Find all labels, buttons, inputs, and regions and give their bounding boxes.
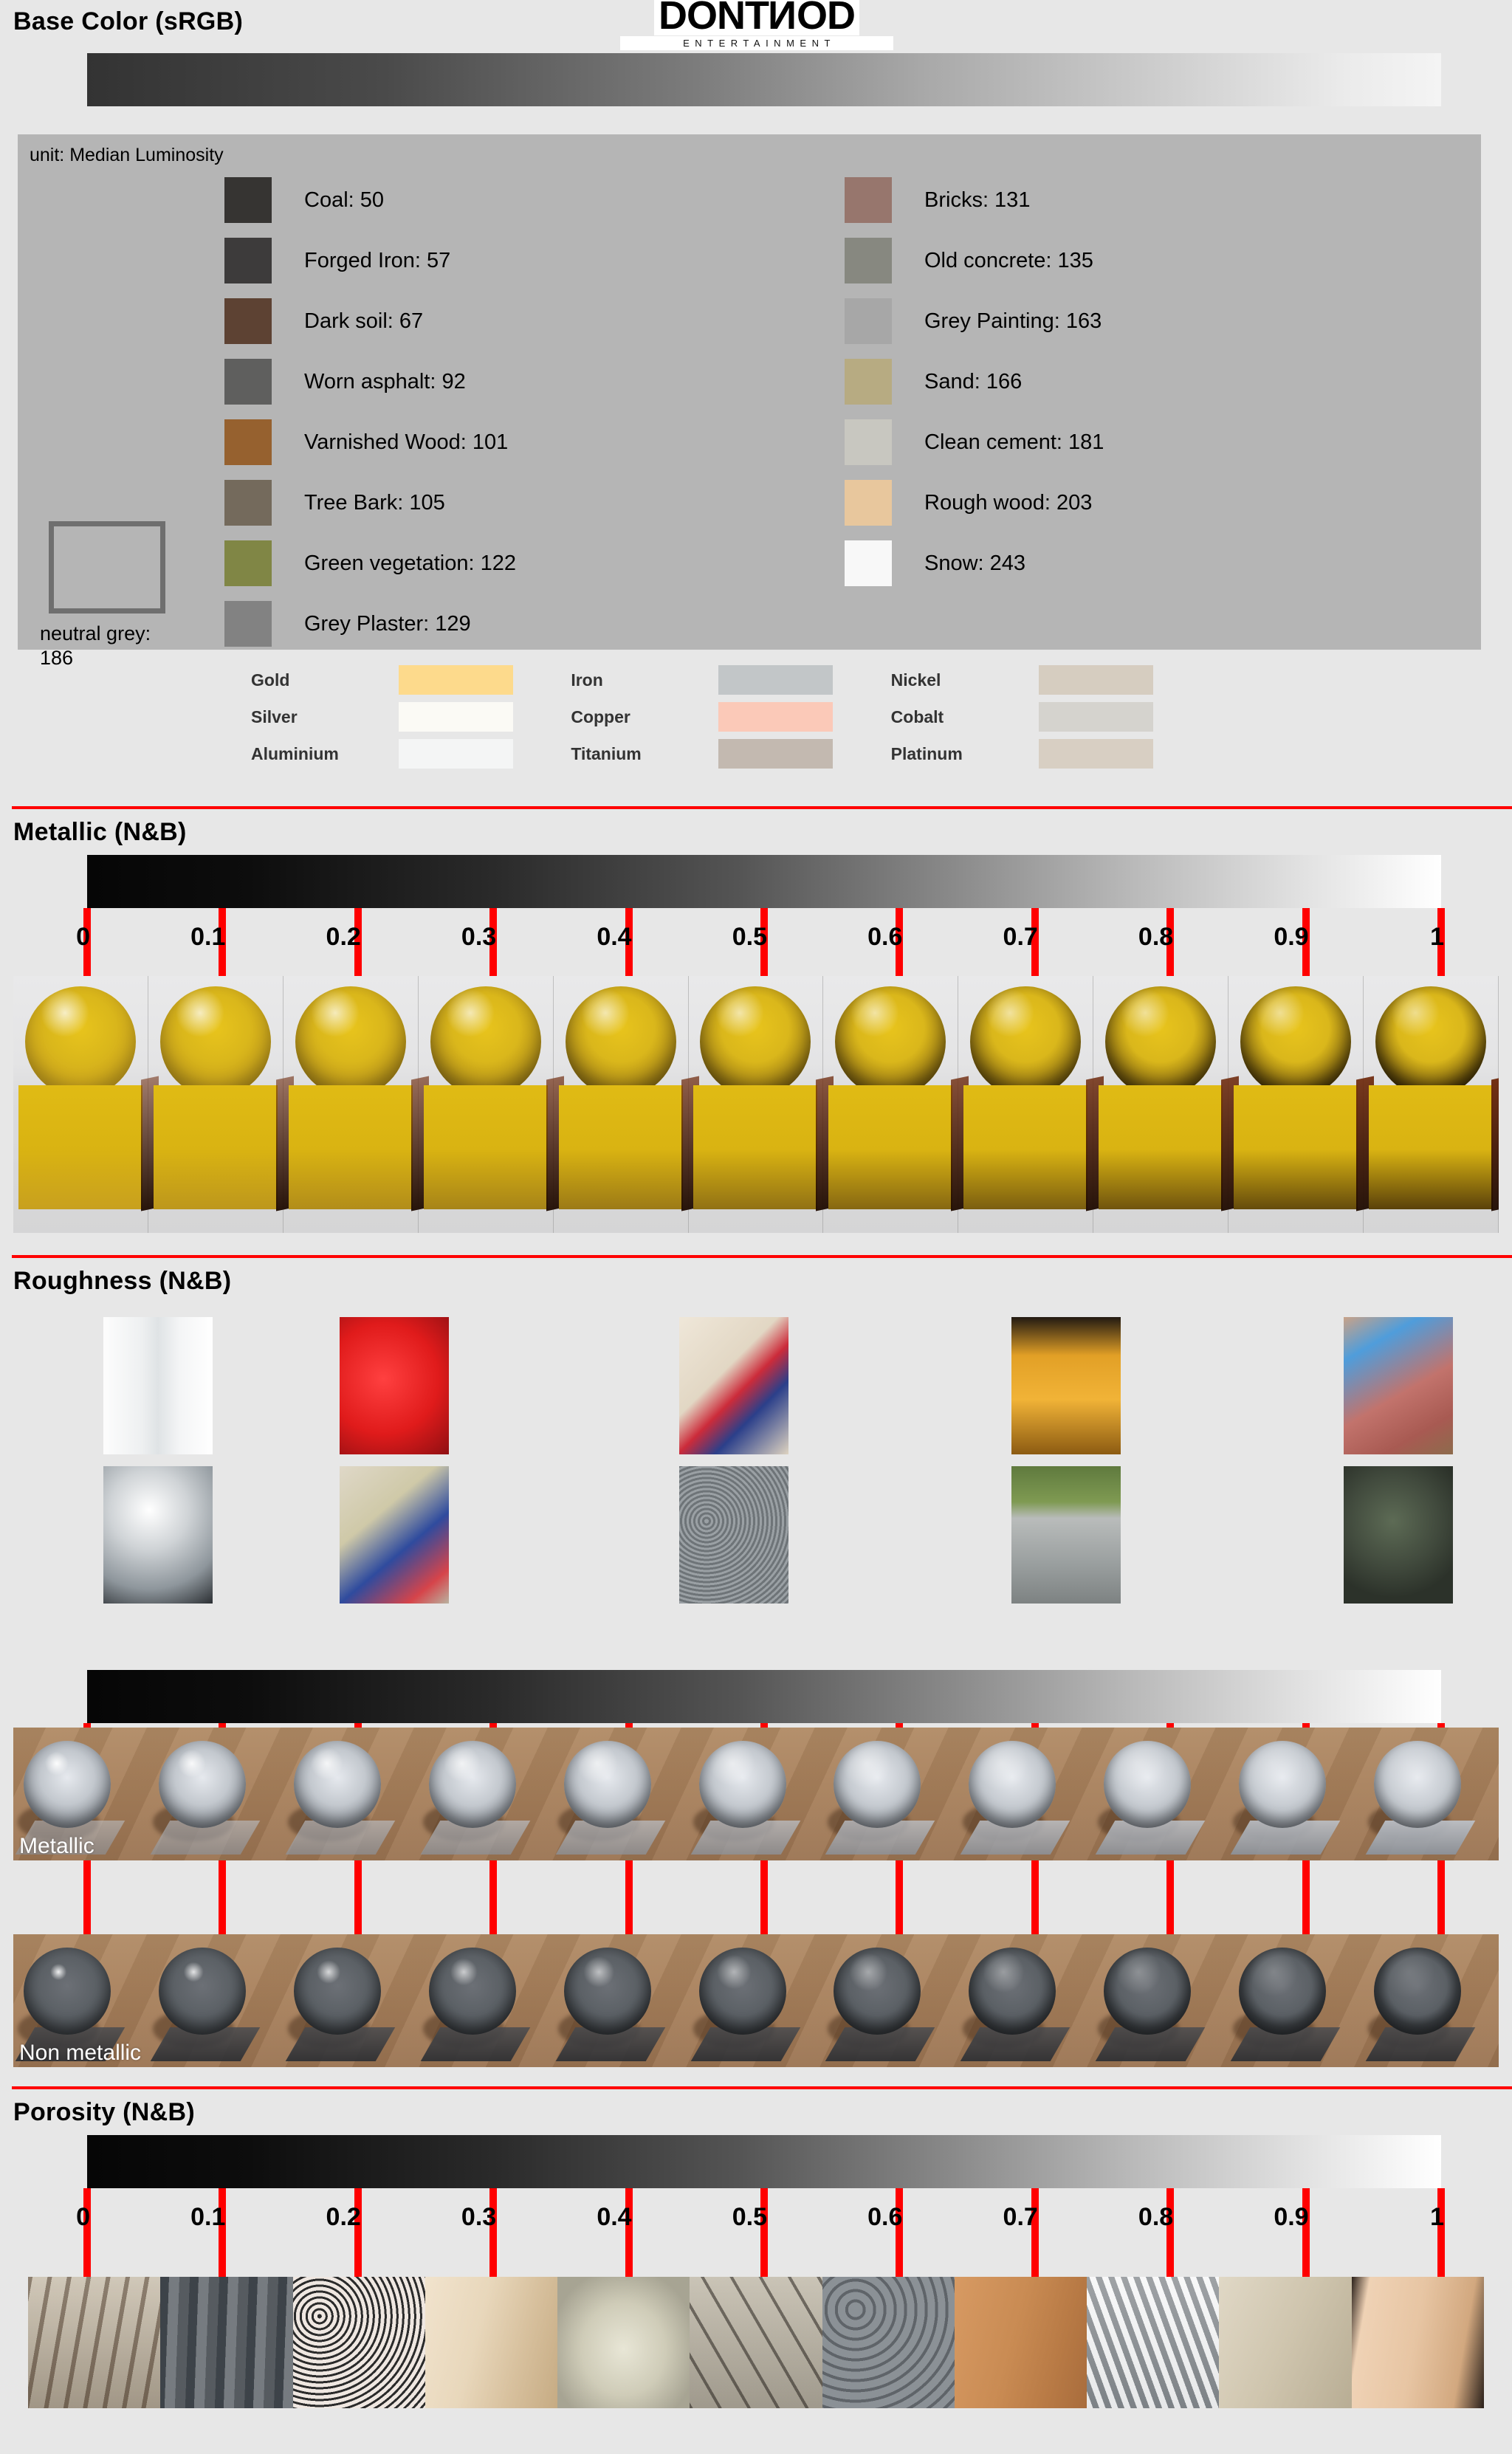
- section-title-base-color: Base Color (sRGB): [0, 1, 243, 36]
- scale-tick: [354, 2188, 362, 2277]
- cube-front-face: [1234, 1085, 1358, 1209]
- roughness-non-metallic-sample: [1364, 1934, 1499, 2067]
- cube-front-face: [963, 1085, 1087, 1209]
- metal-chip: [1039, 702, 1153, 732]
- porosity-photo-dry-sand-dune: [1219, 2277, 1351, 2408]
- scale-tick-label: 0.4: [597, 923, 631, 952]
- metal-name: Silver: [251, 707, 399, 727]
- neutral-grey-label: neutral grey:186: [40, 622, 210, 670]
- sample-sphere: [969, 1948, 1056, 2035]
- swatch-row: Forged Iron: 57: [224, 230, 516, 291]
- scale-tick-label: 0.1: [190, 2203, 225, 2232]
- sample-sphere: [1374, 1741, 1461, 1828]
- section-title-roughness: Roughness (N&B): [0, 1261, 231, 1296]
- sample-sphere: [1239, 1948, 1326, 2035]
- porosity-photo-pale-limestone: [425, 2277, 557, 2408]
- roughness-metallic-sample: [1228, 1728, 1364, 1860]
- sample-sphere: [1104, 1741, 1191, 1828]
- roughness-metallic-sample: [283, 1728, 419, 1860]
- sample-sphere: [969, 1741, 1056, 1828]
- roughness-non-metallic-sample: [419, 1934, 554, 2067]
- cube-side-face: [1491, 1076, 1499, 1211]
- metallic-sample-cube: [424, 1085, 548, 1209]
- scale-tick-label: 0.8: [1138, 923, 1173, 952]
- scale-tick-label: 0.9: [1274, 923, 1308, 952]
- scale-tick: [1302, 2188, 1310, 2277]
- sample-sphere: [24, 1741, 111, 1828]
- metallic-sample-sphere: [835, 986, 946, 1097]
- metallic-sample-cube: [963, 1085, 1087, 1209]
- metallic-scale-bar: [87, 855, 1441, 908]
- swatch-row: Old concrete: 135: [845, 230, 1104, 291]
- sample-sphere: [294, 1948, 381, 2035]
- swatch-label: Varnished Wood: 101: [304, 430, 508, 455]
- metallic-sample-cube: [18, 1085, 142, 1209]
- swatch-row: Coal: 50: [224, 170, 516, 230]
- metallic-sample-sphere: [1105, 986, 1216, 1097]
- swatch-row: Sand: 166: [845, 351, 1104, 412]
- roughness-non-metallic-sample: [283, 1934, 419, 2067]
- swatch-row: Clean cement: 181: [845, 412, 1104, 472]
- scale-tick-label: 1: [1430, 2203, 1444, 2232]
- base-color-swatch-panel: unit: Median Luminosity neutral grey:186…: [18, 134, 1481, 650]
- metallic-sample-sphere: [566, 986, 676, 1097]
- porosity-scale-ticks: 00.10.20.30.40.50.60.70.80.91: [87, 2188, 1441, 2233]
- roughness-non-metallic-row: Non metallic: [13, 1934, 1499, 2067]
- reference-photo-pink-blue-eraser: [1344, 1317, 1453, 1454]
- roughness-metallic-sample: [1093, 1728, 1228, 1860]
- metallic-sample-cube: [154, 1085, 278, 1209]
- cube-front-face: [559, 1085, 683, 1209]
- swatch-row: Rough wood: 203: [845, 472, 1104, 533]
- scale-tick-label: 0.6: [867, 923, 902, 952]
- roughness-metallic-sample: [823, 1728, 958, 1860]
- porosity-scale-bar: [87, 2135, 1441, 2188]
- neutral-grey-swatch: [49, 521, 165, 613]
- cube-front-face: [18, 1085, 142, 1209]
- swatch-row: Snow: 243: [845, 533, 1104, 594]
- metal-name: Titanium: [571, 744, 718, 764]
- metal-chip: [718, 739, 833, 769]
- scale-tick: [83, 1860, 91, 1934]
- scale-tick-label: 0.7: [1003, 2203, 1038, 2232]
- color-chip: [224, 359, 272, 405]
- swatch-label: Forged Iron: 57: [304, 249, 450, 273]
- swatch-label: Coal: 50: [304, 188, 384, 213]
- reference-photo-metal-pen-tip: [340, 1466, 449, 1604]
- unit-label: unit: Median Luminosity: [30, 145, 224, 166]
- scale-tick: [489, 2188, 497, 2277]
- metallic-sample-cube: [1369, 1085, 1493, 1209]
- color-chip: [224, 601, 272, 647]
- scale-tick-label: 0.2: [326, 923, 361, 952]
- cube-front-face: [1099, 1085, 1223, 1209]
- swatch-label: Grey Plaster: 129: [304, 612, 471, 636]
- scale-tick: [625, 2188, 633, 2277]
- scale-tick: [760, 1860, 768, 1934]
- divider-porosity: [12, 2086, 1512, 2089]
- metallic-sample: [148, 976, 283, 1233]
- roughness-metallic-sample: [419, 1728, 554, 1860]
- color-chip: [224, 480, 272, 526]
- sample-sphere: [699, 1741, 786, 1828]
- roughness-scale-bar: [87, 1670, 1441, 1723]
- metal-cell: Iron: [571, 661, 890, 698]
- reference-photo-tarnished-coins: [1344, 1466, 1453, 1604]
- roughness-reference-photos: [0, 1310, 1512, 1605]
- porosity-photo-orange-sandstone: [955, 2277, 1087, 2408]
- metal-name: Aluminium: [251, 744, 399, 764]
- metallic-sample-sphere: [1240, 986, 1351, 1097]
- reference-photo-orange-plastic-bottle-cap: [1011, 1317, 1121, 1454]
- metallic-sample-sphere: [970, 986, 1081, 1097]
- metallic-sample: [1364, 976, 1499, 1233]
- metal-chip: [399, 665, 513, 695]
- porosity-photo-speckled-granite: [293, 2277, 425, 2408]
- metal-cell: Cobalt: [891, 698, 1211, 735]
- metal-cell: Titanium: [571, 735, 890, 772]
- scale-tick-label: 0.8: [1138, 2203, 1173, 2232]
- reference-photo-ballpoint-pens-on-paper: [679, 1317, 788, 1454]
- metallic-scale-ticks: 00.10.20.30.40.50.60.70.80.91: [87, 908, 1441, 952]
- metallic-sample: [1228, 976, 1364, 1233]
- metallic-sample-sphere: [1375, 986, 1486, 1097]
- roughness-non-metallic-sample: [554, 1934, 689, 2067]
- roughness-metallic-sample: [148, 1728, 283, 1860]
- scale-tick-label: 0.1: [190, 923, 225, 952]
- metallic-sample: [419, 976, 554, 1233]
- scale-tick-label: 0.7: [1003, 923, 1038, 952]
- scale-tick-label: 0.5: [732, 2203, 767, 2232]
- sample-sphere: [564, 1948, 651, 2035]
- scale-tick-label: 0.5: [732, 923, 767, 952]
- logo-wordmark: DONTNOD: [654, 0, 859, 35]
- scale-tick-label: 1: [1430, 923, 1444, 952]
- swatch-label: Old concrete: 135: [924, 249, 1093, 273]
- scale-tick: [1166, 1860, 1174, 1934]
- sample-sphere: [834, 1741, 921, 1828]
- swatch-row: Varnished Wood: 101: [224, 412, 516, 472]
- reference-photo-chrome-mirror-ball: [103, 1466, 213, 1604]
- metal-reference-grid: GoldIronNickelSilverCopperCobaltAluminiu…: [251, 661, 1211, 772]
- scale-tick-label: 0.3: [461, 923, 496, 952]
- metallic-sample-cube: [828, 1085, 952, 1209]
- scale-tick: [1166, 2188, 1174, 2277]
- color-chip: [845, 480, 892, 526]
- color-chip: [224, 419, 272, 465]
- color-chip: [845, 540, 892, 586]
- scale-tick: [489, 1860, 497, 1934]
- scale-tick-label: 0.2: [326, 2203, 361, 2232]
- porosity-photo-cracked-dry-mud: [690, 2277, 822, 2408]
- cube-front-face: [693, 1085, 817, 1209]
- swatch-column-left: Coal: 50Forged Iron: 57Dark soil: 67Worn…: [224, 170, 516, 654]
- swatch-row: Bricks: 131: [845, 170, 1104, 230]
- metallic-sample-sphere: [430, 986, 541, 1097]
- scale-tick: [1302, 1860, 1310, 1934]
- metal-name: Copper: [571, 707, 718, 727]
- metallic-sample-cube: [559, 1085, 683, 1209]
- sample-sphere: [429, 1948, 516, 2035]
- swatch-label: Rough wood: 203: [924, 491, 1092, 515]
- metal-cell: Aluminium: [251, 735, 571, 772]
- roughness-non-metallic-sample: [1228, 1934, 1364, 2067]
- scale-tick-label: 0.6: [867, 2203, 902, 2232]
- metal-name: Cobalt: [891, 707, 1039, 727]
- scale-tick-label: 0: [76, 2203, 90, 2232]
- scale-tick: [760, 2188, 768, 2277]
- metallic-sample: [283, 976, 419, 1233]
- section-title-metallic: Metallic (N&B): [0, 812, 187, 847]
- cube-front-face: [828, 1085, 952, 1209]
- scale-tick: [625, 1860, 633, 1934]
- swatch-row: Grey Plaster: 129: [224, 594, 516, 654]
- color-chip: [845, 177, 892, 223]
- metallic-sample-cube: [1099, 1085, 1223, 1209]
- metal-cell: Silver: [251, 698, 571, 735]
- roughness-metallic-sample: [554, 1728, 689, 1860]
- porosity-photo-terracotta-pot: [1352, 2277, 1484, 2408]
- sample-sphere: [294, 1741, 381, 1828]
- scale-tick: [896, 2188, 903, 2277]
- sample-sphere: [159, 1948, 246, 2035]
- metal-cell: Copper: [571, 698, 890, 735]
- sample-sphere: [834, 1948, 921, 2035]
- scale-tick: [1437, 1860, 1445, 1934]
- metal-cell: Gold: [251, 661, 571, 698]
- sample-sphere: [699, 1948, 786, 2035]
- metal-cell: Platinum: [891, 735, 1211, 772]
- swatch-label: Clean cement: 181: [924, 430, 1104, 455]
- porosity-sample-strip: [28, 2277, 1484, 2408]
- dontnod-logo: DONTNOD ENTERTAINMENT: [620, 0, 893, 50]
- divider-metallic: [12, 806, 1512, 809]
- sample-sphere: [24, 1948, 111, 2035]
- roughness-scale-ticks-mid: [87, 1860, 1441, 1905]
- metal-chip: [1039, 665, 1153, 695]
- roughness-non-metallic-sample: [958, 1934, 1093, 2067]
- caption-non-metallic: Non metallic: [19, 2041, 141, 2066]
- scale-tick: [1031, 2188, 1039, 2277]
- metal-name: Iron: [571, 670, 718, 690]
- color-chip: [845, 298, 892, 344]
- cube-front-face: [1369, 1085, 1493, 1209]
- color-chip: [845, 238, 892, 283]
- roughness-metallic-row: Metallic: [13, 1728, 1499, 1860]
- porosity-photo-snow-gravel-mix: [1087, 2277, 1219, 2408]
- metallic-sample-sphere: [295, 986, 406, 1097]
- reference-photo-perforated-metal-drum: [679, 1466, 788, 1604]
- swatch-row: Worn asphalt: 92: [224, 351, 516, 412]
- reference-photo-drinking-glass: [103, 1317, 213, 1454]
- reference-photo-red-gift-bow: [340, 1317, 449, 1454]
- cube-front-face: [289, 1085, 413, 1209]
- sample-sphere: [564, 1741, 651, 1828]
- metallic-sample: [689, 976, 824, 1233]
- metallic-sample-strip: [13, 976, 1499, 1233]
- color-chip: [224, 540, 272, 586]
- swatch-label: Bricks: 131: [924, 188, 1030, 213]
- metal-chip: [718, 665, 833, 695]
- swatch-row: Tree Bark: 105: [224, 472, 516, 533]
- cube-front-face: [424, 1085, 548, 1209]
- roughness-metallic-sample: [958, 1728, 1093, 1860]
- scale-tick-label: 0.3: [461, 2203, 496, 2232]
- swatch-label: Green vegetation: 122: [304, 551, 516, 576]
- metal-chip: [399, 739, 513, 769]
- metallic-sample-cube: [1234, 1085, 1358, 1209]
- swatch-row: Dark soil: 67: [224, 291, 516, 351]
- scale-tick-label: 0: [76, 923, 90, 952]
- metallic-sample: [958, 976, 1093, 1233]
- metallic-sample-cube: [289, 1085, 413, 1209]
- swatch-label: Grey Painting: 163: [924, 309, 1102, 334]
- metallic-sample: [1093, 976, 1228, 1233]
- scale-tick-label: 0.4: [597, 2203, 631, 2232]
- swatch-label: Snow: 243: [924, 551, 1025, 576]
- scale-tick: [219, 1860, 226, 1934]
- scale-tick: [83, 2188, 91, 2277]
- caption-metallic: Metallic: [19, 1834, 94, 1859]
- scale-tick: [1031, 1860, 1039, 1934]
- roughness-metallic-sample: [1364, 1728, 1499, 1860]
- sample-sphere: [429, 1741, 516, 1828]
- swatch-label: Sand: 166: [924, 370, 1022, 394]
- base-color-gradient-bar: [87, 53, 1441, 106]
- roughness-metallic-sample: [689, 1728, 824, 1860]
- swatch-row: Grey Painting: 163: [845, 291, 1104, 351]
- color-chip: [224, 238, 272, 283]
- section-title-porosity: Porosity (N&B): [0, 2092, 195, 2127]
- scale-tick: [1437, 2188, 1445, 2277]
- metal-chip: [718, 702, 833, 732]
- swatch-column-right: Bricks: 131Old concrete: 135Grey Paintin…: [845, 170, 1104, 594]
- metal-chip: [1039, 739, 1153, 769]
- scale-tick: [354, 1860, 362, 1934]
- metal-name: Platinum: [891, 744, 1039, 764]
- metal-cell: Nickel: [891, 661, 1211, 698]
- swatch-row: Green vegetation: 122: [224, 533, 516, 594]
- scale-tick: [219, 2188, 226, 2277]
- metallic-sample: [823, 976, 958, 1233]
- scale-tick-label: 0.9: [1274, 2203, 1308, 2232]
- color-chip: [845, 419, 892, 465]
- swatch-label: Tree Bark: 105: [304, 491, 445, 515]
- porosity-photo-wet-clay-on-wheel: [557, 2277, 690, 2408]
- metallic-sample: [554, 976, 689, 1233]
- color-chip: [845, 359, 892, 405]
- divider-roughness: [12, 1255, 1512, 1258]
- color-chip: [224, 177, 272, 223]
- sample-sphere: [159, 1741, 246, 1828]
- sample-sphere: [1239, 1741, 1326, 1828]
- metal-name: Nickel: [891, 670, 1039, 690]
- metallic-sample-sphere: [700, 986, 811, 1097]
- porosity-photo-stacked-slate-slabs: [160, 2277, 292, 2408]
- sample-sphere: [1374, 1948, 1461, 2035]
- metallic-sample-sphere: [25, 986, 136, 1097]
- reference-photo-aluminium-plant-pot: [1011, 1466, 1121, 1604]
- roughness-non-metallic-sample: [823, 1934, 958, 2067]
- logo-tagline: ENTERTAINMENT: [620, 36, 893, 50]
- porosity-photo-cracked-bark-rock: [28, 2277, 160, 2408]
- metallic-sample-cube: [693, 1085, 817, 1209]
- metal-chip: [399, 702, 513, 732]
- roughness-non-metallic-sample: [148, 1934, 283, 2067]
- porosity-photo-river-pebbles: [822, 2277, 955, 2408]
- swatch-label: Worn asphalt: 92: [304, 370, 466, 394]
- color-chip: [224, 298, 272, 344]
- metallic-sample-sphere: [160, 986, 271, 1097]
- roughness-non-metallic-sample: [689, 1934, 824, 2067]
- scale-tick: [896, 1860, 903, 1934]
- sample-sphere: [1104, 1948, 1191, 2035]
- cube-front-face: [154, 1085, 278, 1209]
- metallic-sample: [13, 976, 148, 1233]
- roughness-non-metallic-sample: [1093, 1934, 1228, 2067]
- metal-name: Gold: [251, 670, 399, 690]
- swatch-label: Dark soil: 67: [304, 309, 423, 334]
